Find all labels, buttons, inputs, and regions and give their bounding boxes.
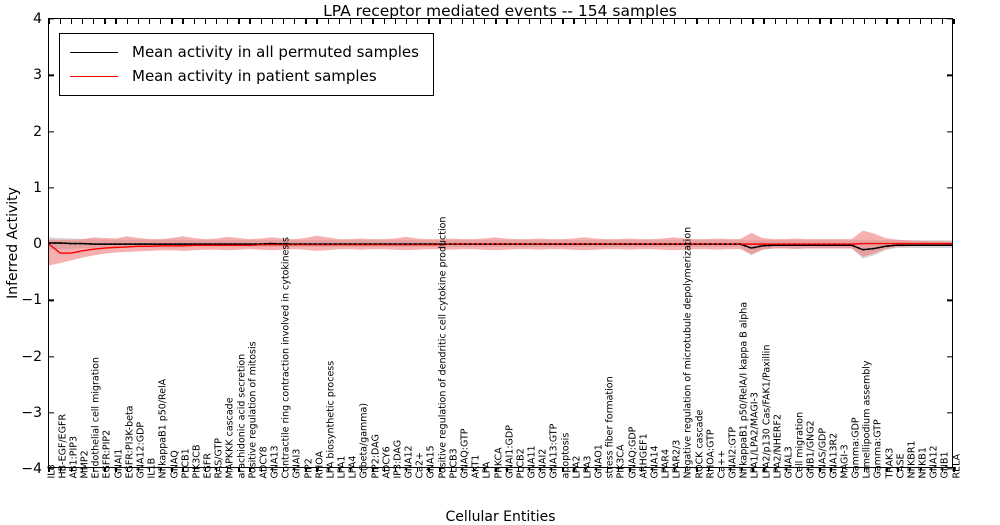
x-tick-label: Contractile ring contraction involved in…: [281, 237, 291, 478]
y-tick-label: 2: [33, 124, 49, 140]
x-tick-label: Ca++: [717, 450, 727, 478]
x-tick-label: PIK3CA: [617, 444, 627, 478]
x-tick-label: GNAI1: [114, 448, 124, 478]
x-tick-label: PIK3CB: [192, 444, 202, 478]
x-tick-label: NFkappaB1 p50/RelA: [159, 378, 169, 478]
x-tick-label: PIP2: [304, 458, 314, 478]
x-tick-label: ADCY8: [259, 446, 269, 478]
x-tick-label: PLCB2: [516, 448, 526, 478]
x-tick-label: PRKCA: [494, 447, 504, 478]
x-tick-label: GNAI2: [538, 448, 548, 478]
x-tick-label: RAS/GTP: [214, 437, 224, 478]
x-tick-label: GNAO1: [594, 444, 604, 478]
x-tick-label: Positive regulation of mitosis: [248, 341, 258, 478]
x-tick-label: IL8: [47, 464, 57, 478]
x-tick-label: NFKB1: [918, 447, 928, 478]
x-tick-label: AKT1: [471, 454, 481, 478]
x-tick-label: MAGI-3: [840, 444, 850, 478]
x-tick-label: stress fiber formation: [605, 376, 615, 478]
x-tick-label: LPA1/LPA2/MAGI-3: [751, 392, 761, 478]
x-tick-label: arachidonic acid secretion: [237, 353, 247, 478]
x-tick-label: PLCB3: [449, 448, 459, 478]
x-tick-label: EGFR: [203, 453, 213, 478]
confidence-band: [49, 231, 952, 266]
x-tick-label: PIP2:DAG: [371, 434, 381, 478]
x-tick-label: IP3:DAG: [393, 439, 403, 478]
x-tick-label: GNAL3: [784, 446, 794, 478]
chart-legend: Mean activity in all permuted samples Me…: [59, 33, 434, 96]
x-tick-label: Cell migration: [795, 411, 805, 478]
x-tick-label: LPA2: [572, 455, 582, 478]
x-tick-label: apoptosis: [561, 432, 571, 478]
x-tick-label: EGFR:PIP2: [103, 429, 113, 478]
y-tick-label: −3: [21, 405, 49, 421]
x-tick-label: ADCY6: [382, 446, 392, 478]
x-tick-label: GNA13: [270, 445, 280, 478]
x-tick-label: Gamma:GDP: [851, 417, 861, 478]
x-tick-label: AB1:PIP3: [69, 435, 79, 478]
x-tick-label: NFkappaB1 p50/RelA/I kappa B alpha: [740, 301, 750, 478]
figure-canvas: LPA receptor mediated events -- 154 samp…: [0, 0, 1000, 500]
x-tick-label: GNA14: [650, 445, 660, 478]
x-tick-label: GNB1/GNG2: [807, 420, 817, 478]
y-tick-label: −1: [21, 292, 49, 308]
x-tick-label: RHOA: [315, 450, 325, 478]
x-tick-label: EGFR:PI3K-beta: [125, 405, 135, 478]
y-tick-label: 1: [33, 180, 49, 196]
x-tick-label: GNA11: [527, 445, 537, 478]
x-tick-label: GNA12: [930, 445, 940, 478]
x-tick-label: MMP2: [80, 450, 90, 478]
x-tick-label: ARHGEF1: [639, 433, 649, 478]
y-tick-label: −2: [21, 349, 49, 365]
x-tick-label: HB-EGF/EGFR: [58, 413, 68, 478]
x-tick-label: Lamellipodium assembly: [862, 360, 872, 478]
x-axis-label: Cellular Entities: [445, 509, 555, 525]
legend-label-permuted: Mean activity in all permuted samples: [132, 43, 419, 61]
x-tick-label: MAPKKK cascade: [226, 397, 236, 478]
x-tick-label: LPA biosynthetic process: [326, 360, 336, 478]
x-tick-label: Endothelial cell migration: [92, 357, 102, 478]
x-tick-label: LPA3: [583, 455, 593, 478]
x-tick-label: GNA13:GTP: [550, 423, 560, 478]
x-tick-label: Negative regulation of microtubule depol…: [684, 226, 694, 478]
x-tick-label: GNAI1:GDP: [505, 425, 515, 478]
x-tick-label: NFKBR1: [907, 440, 917, 478]
y-tick-label: 4: [33, 11, 49, 27]
x-tick-label: PLCB1: [181, 448, 191, 478]
legend-entry-permuted: Mean activity in all permuted samples: [70, 40, 419, 64]
x-tick-label: GNAQ:GTP: [460, 428, 470, 478]
x-tick-label: GNAI3: [293, 448, 303, 478]
x-tick-label: GNAI2:GTP: [728, 426, 738, 478]
x-tick-label: GNAQ:GDP: [628, 426, 638, 478]
x-tick-label: GNA15: [427, 445, 437, 478]
x-tick-label: Ca2+: [416, 452, 426, 478]
y-tick-label: 3: [33, 67, 49, 83]
x-tick-label: G(beta/gamma): [360, 402, 370, 478]
x-tick-label: TRAK3: [885, 447, 895, 478]
x-tick-label: LPA4: [349, 455, 359, 478]
y-tick-label: 0: [33, 236, 49, 252]
legend-swatch-permuted: [70, 52, 118, 53]
legend-label-patient: Mean activity in patient samples: [132, 67, 377, 85]
x-tick-label: GNAQ: [170, 450, 180, 478]
plot-axes: Inferred Activity Cellular Entities 4321…: [48, 18, 953, 468]
x-tick-label: LPA2/p130 Cas/FAK1/Paxillin: [762, 344, 772, 478]
x-tick-label: LPA1: [337, 455, 347, 478]
x-tick-label: GNAS/GDP: [818, 427, 828, 478]
y-tick-label: −4: [21, 461, 49, 477]
x-tick-label: GNA12: [404, 445, 414, 478]
x-tick-label: Gamma:GTP: [874, 419, 884, 478]
y-axis-label: Inferred Activity: [5, 187, 21, 299]
x-tick-label: LPAR4: [661, 448, 671, 478]
x-tick-label: CASE: [896, 453, 906, 478]
x-tick-label: LPAR2/3: [673, 439, 683, 478]
x-tick-label: GNB1: [941, 451, 951, 478]
x-tick-label: RELA: [952, 453, 962, 478]
legend-entry-patient: Mean activity in patient samples: [70, 64, 419, 88]
legend-swatch-patient: [70, 76, 118, 77]
x-tick-label: LPA: [483, 461, 493, 478]
x-tick-label: IL1B: [147, 457, 157, 478]
x-tick-label: LPA2/NHERF2: [773, 413, 783, 478]
x-tick-label: GNA12:GDP: [136, 421, 146, 478]
x-tick-label: RHOA:GTP: [706, 429, 716, 478]
x-tick-label: Positive regulation of dendritic cell cy…: [438, 216, 448, 478]
x-tick-label: ROCK cascade: [695, 409, 705, 478]
x-tick-mark: [953, 19, 954, 24]
x-tick-label: GNA13R2: [829, 432, 839, 478]
